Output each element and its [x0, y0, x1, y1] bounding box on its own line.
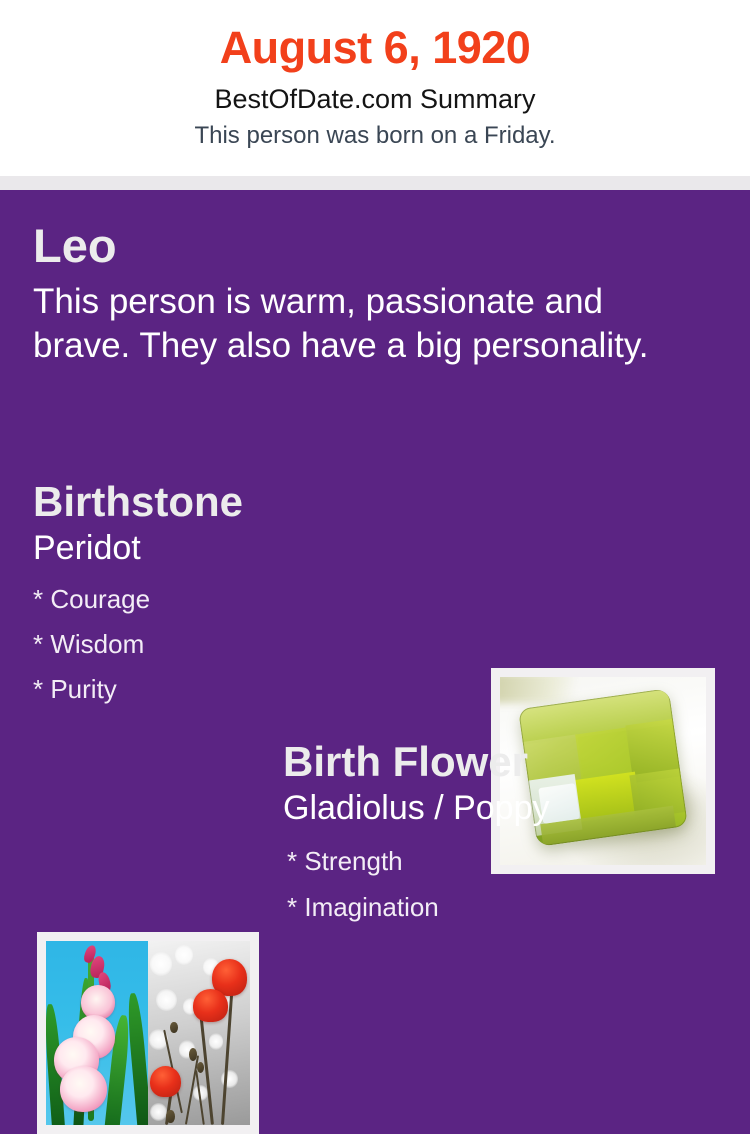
birthstone-trait-list: * Courage * Wisdom * Purity [33, 577, 473, 712]
page-header: August 6, 1920 BestOfDate.com Summary Th… [0, 0, 750, 176]
list-item: * Imagination [283, 884, 713, 930]
bokeh-light [150, 952, 172, 976]
zodiac-sign-name: Leo [33, 220, 693, 272]
page-title: August 6, 1920 [0, 22, 750, 74]
bokeh-light [209, 1033, 223, 1050]
list-item: * Purity [33, 667, 473, 712]
leaf-shape [125, 992, 148, 1125]
bokeh-light [175, 945, 193, 965]
photo-background-blur [500, 677, 574, 703]
poppy-bud [189, 1048, 197, 1061]
zodiac-description: This person is warm, passionate and brav… [33, 280, 678, 368]
birthstone-section: Birthstone Peridot * Courage * Wisdom * … [33, 478, 473, 712]
gladiolus-and-poppy-image [46, 941, 250, 1125]
header-divider [0, 176, 750, 190]
zodiac-section: Leo This person is warm, passionate and … [33, 220, 693, 368]
gladiolus-photo-panel [46, 941, 148, 1125]
poppy-bud [197, 1062, 204, 1073]
poppy-bud [170, 1022, 177, 1033]
poppy-flower [150, 1066, 181, 1097]
birthflower-trait-list: * Strength * Imagination [283, 838, 713, 930]
birthflower-image-frame [37, 932, 259, 1134]
poppy-bud [166, 1110, 174, 1123]
list-item: * Strength [283, 838, 713, 884]
birthstone-heading: Birthstone [33, 478, 473, 526]
list-item: * Courage [33, 577, 473, 622]
born-day-text: This person was born on a Friday. [0, 120, 750, 151]
gladiolus-bloom [60, 1066, 107, 1112]
summary-panel: Leo This person is warm, passionate and … [0, 190, 750, 1000]
birthstone-name: Peridot [33, 528, 473, 568]
birthflower-heading: Birth Flower [283, 738, 713, 786]
poppy-flower [193, 989, 228, 1022]
birthflower-name: Gladiolus / Poppy [283, 788, 713, 828]
site-summary-label: BestOfDate.com Summary [0, 81, 750, 117]
list-item: * Wisdom [33, 622, 473, 667]
birthflower-section: Birth Flower Gladiolus / Poppy * Strengt… [283, 738, 713, 930]
poppy-photo-panel [148, 941, 250, 1125]
